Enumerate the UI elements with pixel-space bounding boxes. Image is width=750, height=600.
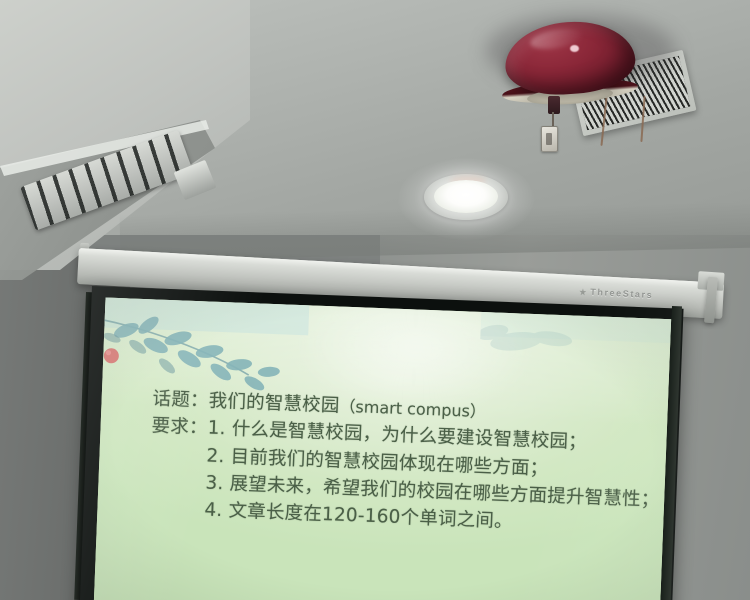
screen-brand-label: ThreeStars <box>579 286 653 300</box>
presentation-slide: 话题：我们的智慧校园（smart compus） 要求：1. 什么是智慧校园，为… <box>93 298 671 600</box>
slide-text-block: 话题：我们的智慧校园（smart compus） 要求：1. 什么是智慧校园，为… <box>148 386 645 541</box>
alarm-bell-stem <box>548 96 560 114</box>
topic-en: （smart compus） <box>339 397 486 422</box>
topic-label: 话题： <box>152 389 209 412</box>
alarm-bell-glint <box>570 45 579 52</box>
leaf-wash-decoration-icon <box>478 306 671 404</box>
projector-screen[interactable]: 话题：我们的智慧校园（smart compus） 要求：1. 什么是智慧校园，为… <box>79 286 683 600</box>
topic-cn: 我们的智慧校园 <box>208 391 340 417</box>
hanging-inspection-tag <box>541 126 558 152</box>
requirements-label: 要求： <box>151 416 208 439</box>
screen-brand-text: ThreeStars <box>590 287 653 300</box>
recessed-ceiling-downlight <box>434 180 498 213</box>
brand-star-icon <box>579 288 586 295</box>
classroom-photo-scene: ThreeStars <box>0 0 750 600</box>
